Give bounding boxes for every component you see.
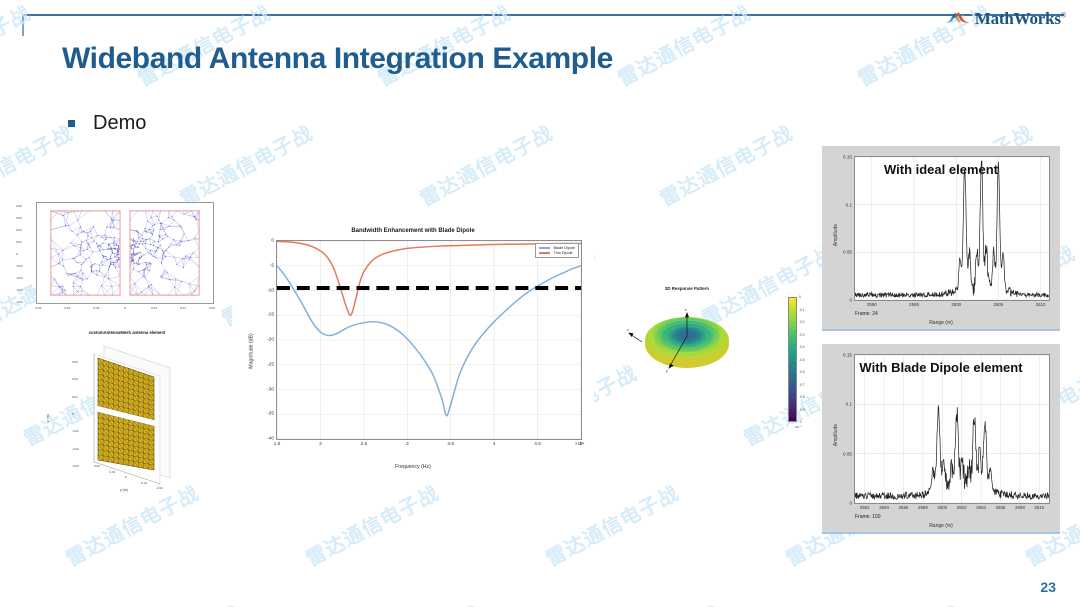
bandwidth-xtick-label: 2.5: [361, 442, 368, 447]
custom-antenna-element-ztick-label: 0.03: [72, 360, 78, 364]
custom-antenna-element-xtick-label: 0.01: [110, 470, 116, 474]
page-title: Wideband Antenna Integration Example: [62, 42, 613, 76]
colorbar-tick-label: -0.8: [799, 395, 805, 399]
bandwidth-ytick-label: -25: [267, 362, 274, 367]
legend-label-thin-dipole: Thin Dipole: [553, 251, 572, 255]
range-profile-blade-svg: [855, 355, 1049, 503]
range-profile-blade-frame: Frame: 100: [855, 514, 881, 520]
range-profile-xtick-label: 2610: [1034, 505, 1044, 510]
legend-item-blade-dipole[interactable]: Blade Dipole: [539, 246, 575, 250]
bandwidth-chart-title: Bandwidth Enhancement with Blade Dipole: [232, 228, 594, 234]
range-profile-xtick-label: 2598: [918, 505, 928, 510]
range-profile-xtick-label: 2608: [1015, 505, 1025, 510]
range-profile-blade-axes: 00.050.10.15 259225942596259826002602260…: [854, 354, 1050, 504]
antenna-mesh-ytick-label: 0: [16, 252, 18, 256]
bandwidth-ytick-label: -10: [267, 288, 274, 293]
legend-swatch-blade-dipole: [539, 247, 550, 248]
bandwidth-ytick-label: -20: [267, 338, 274, 343]
custom-antenna-element-ztick-label: 0.01: [72, 395, 78, 399]
bandwidth-ytick-label: -35: [267, 412, 274, 417]
range-profile-ytick-label: 0.15: [843, 353, 852, 358]
antenna-mesh-ytick-label: -0.02: [16, 288, 23, 292]
custom-antenna-element-xtick-label: 0: [125, 475, 127, 479]
antenna-mesh-ytick-label: -0.02: [16, 300, 23, 304]
range-profile-blade-ylabel: Amplitude: [833, 424, 839, 446]
bullet-item-demo: Demo: [68, 112, 146, 135]
bandwidth-ytick-label: 0: [271, 239, 274, 244]
antenna-mesh-xtick-label: 0.01: [180, 306, 186, 310]
bandwidth-xtick-label: 4: [493, 442, 496, 447]
header-rule-tick: [22, 14, 24, 36]
slide-number: 23: [1040, 579, 1056, 595]
mathworks-logo-text: MathWorks®: [975, 9, 1066, 29]
antenna-mesh-svg: [37, 203, 213, 303]
bandwidth-xtick-label: 3.5: [447, 442, 454, 447]
antenna-mesh-xtick-label: 0.01: [151, 306, 157, 310]
custom-antenna-element-ztick-label: -0.03: [72, 464, 79, 468]
colorbar-tick-label: -0.6: [799, 370, 805, 374]
colorbar-tick-label: -0.7: [799, 383, 805, 387]
antenna-mesh-xtick-label: 0.02: [209, 306, 215, 310]
antenna-mesh-ytick-label: 0.02: [16, 216, 22, 220]
range-profile-xtick-label: 2600: [951, 302, 961, 307]
watermark-text: 雷达通信电子战: [1062, 597, 1080, 607]
custom-antenna-element-ylabel: z (m): [46, 414, 50, 422]
range-profile-blade-caption: With Blade Dipole element: [822, 360, 1060, 375]
svg-text:y: y: [666, 369, 668, 373]
antenna-mesh-ytick-label: -0.01: [16, 264, 23, 268]
colorbar-tick-label: -1: [799, 420, 802, 424]
range-profile-xtick-label: 2595: [909, 302, 919, 307]
watermark-text: 雷达通信电子战: [414, 117, 557, 212]
custom-antenna-element-xlabel: y (m): [120, 488, 128, 492]
bandwidth-xtick-label: 2: [319, 442, 322, 447]
antenna-mesh-figure: -0.02-0.01-0.0100.010.010.02 0.020.020.0…: [14, 196, 220, 322]
bandwidth-chart-svg: [277, 241, 581, 439]
colorbar-tick-label: -0.9: [799, 408, 805, 412]
range-profile-blade-xlabel: Range (m): [822, 523, 1060, 529]
range-profile-xtick-label: 2592: [860, 505, 870, 510]
bullet-marker-icon: [68, 120, 75, 127]
range-profile-ideal-underline: [822, 329, 1060, 331]
colorbar-tick-label: 0: [799, 295, 801, 299]
range-profile-ideal-panel: With ideal element Amplitude Range (m) F…: [822, 146, 1060, 331]
watermark-text: 雷达通信电子战: [300, 477, 443, 572]
custom-antenna-element-ztick-label: -0.01: [72, 429, 79, 433]
range-profile-ytick-label: 0.15: [843, 155, 852, 160]
range-profile-ideal-svg: [855, 157, 1049, 300]
bandwidth-ytick-label: -15: [267, 313, 274, 318]
mathworks-logo: MathWorks®: [946, 6, 1066, 32]
svg-text:x: x: [627, 328, 629, 332]
range-profile-xtick-label: 2600: [937, 505, 947, 510]
bandwidth-chart-x-exponent: ×10⁹: [575, 441, 584, 446]
range-profile-ideal-xlabel: Range (m): [822, 320, 1060, 326]
range-profile-trace: [855, 161, 1049, 297]
antenna-mesh-xtick-label: -0.01: [64, 306, 71, 310]
custom-antenna-element-figure: customAntennaMesh antenna element 0.030.…: [42, 328, 212, 496]
watermark-text: 雷达通信电子战: [540, 477, 683, 572]
bandwidth-chart-ylabel: Magnitude (dB): [249, 333, 255, 368]
watermark-text: 雷达通信电子战: [102, 597, 245, 607]
mathworks-membrane-icon: [946, 9, 970, 29]
watermark-text: 雷达通信电子战: [342, 597, 485, 607]
range-profile-ytick-label: 0.1: [846, 402, 852, 407]
range-profile-xtick-label: 2602: [957, 505, 967, 510]
response-pattern-figure: 3D Response Pattern: [622, 282, 752, 408]
bandwidth-xtick-label: 1.5: [274, 442, 281, 447]
watermark-text: 雷达通信电子战: [582, 597, 725, 607]
bandwidth-ytick-label: -40: [267, 437, 274, 442]
antenna-mesh-ytick-label: -0.01: [16, 276, 23, 280]
bandwidth-ytick-label: -30: [267, 387, 274, 392]
custom-antenna-element-title: customAntennaMesh antenna element: [42, 330, 212, 335]
colorbar-tick-label: -0.3: [799, 333, 805, 337]
range-profile-ytick-label: 0: [849, 501, 852, 506]
legend-swatch-thin-dipole: [539, 252, 550, 253]
header-rule: [22, 14, 1064, 16]
antenna-mesh-ytick-label: 0.02: [16, 204, 22, 208]
range-profile-xtick-label: 2610: [1036, 302, 1046, 307]
antenna-mesh-xtick-label: -0.02: [35, 306, 42, 310]
range-profile-xtick-label: 2596: [899, 505, 909, 510]
custom-antenna-element-xtick-label: -0.01: [141, 481, 148, 485]
range-profile-xtick-label: 2594: [879, 505, 889, 510]
custom-antenna-element-xtick-label: -0.02: [156, 486, 163, 490]
legend-item-thin-dipole[interactable]: Thin Dipole: [539, 251, 575, 255]
custom-antenna-element-xtick-label: 0.02: [94, 464, 100, 468]
custom-antenna-element-ztick-label: 0.02: [72, 377, 78, 381]
custom-antenna-element-svg: [42, 328, 212, 496]
range-profile-blade-underline: [822, 532, 1060, 534]
range-profile-ytick-label: 0.1: [846, 202, 852, 207]
custom-antenna-element-ztick-label: 0: [72, 412, 74, 416]
bandwidth-chart-plot-area: 0-5-10-15-20-25-30-35-40 1.522.533.544.5…: [276, 240, 582, 440]
range-profile-ytick-label: 0.05: [843, 250, 852, 255]
colorbar-tick-label: -0.4: [799, 345, 805, 349]
bandwidth-xtick-label: 3: [406, 442, 409, 447]
range-profile-xtick-label: 2590: [867, 302, 877, 307]
antenna-mesh-xtick-label: 0: [124, 306, 126, 310]
legend-label-blade-dipole: Blade Dipole: [553, 246, 575, 250]
range-profile-ideal-axes: 00.050.10.15 25902595260026052610: [854, 156, 1050, 301]
bandwidth-xtick-label: 4.5: [534, 442, 541, 447]
range-profile-xtick-label: 2605: [994, 302, 1004, 307]
bandwidth-chart-xlabel: Frequency (Hz): [232, 464, 594, 470]
range-profile-ytick-label: 0: [849, 298, 852, 303]
antenna-mesh-ytick-label: 0.01: [16, 228, 22, 232]
custom-antenna-element-ztick-label: -0.02: [72, 447, 79, 451]
antenna-mesh-xtick-label: -0.01: [93, 306, 100, 310]
range-profile-ideal-frame: Frame: 24: [855, 311, 878, 317]
colorbar-gradient: [788, 297, 797, 422]
range-profile-ytick-label: 0.05: [843, 451, 852, 456]
antenna-mesh-ytick-label: 0.01: [16, 240, 22, 244]
response-pattern-title: 3D Response Pattern: [622, 286, 752, 291]
colorbar-exponent: ×10⁻⁴: [794, 425, 802, 429]
bandwidth-enhancement-figure: Bandwidth Enhancement with Blade Dipole …: [232, 226, 594, 476]
bandwidth-chart-legend[interactable]: Blade Dipole Thin Dipole: [535, 243, 579, 258]
range-profile-xtick-label: 2604: [976, 505, 986, 510]
antenna-mesh-axes: [36, 202, 214, 304]
colorbar-tick-label: -0.5: [799, 358, 805, 362]
watermark-text: 雷达通信电子战: [822, 597, 965, 607]
watermark-text: 雷达通信电子战: [654, 117, 797, 212]
range-profile-blade-panel: With Blade Dipole element Amplitude Rang…: [822, 344, 1060, 534]
bandwidth-ytick-label: -5: [270, 263, 274, 268]
range-profile-xtick-label: 2606: [996, 505, 1006, 510]
bullet-item-label: Demo: [93, 112, 146, 135]
range-profile-ideal-ylabel: Amplitude: [833, 224, 839, 246]
colorbar-tick-label: -0.1: [799, 308, 805, 312]
svg-text:z: z: [685, 308, 687, 312]
response-pattern-svg: z x y: [622, 282, 752, 408]
range-profile-ideal-caption: With ideal element: [822, 162, 1060, 177]
colorbar-tick-label: -0.2: [799, 320, 805, 324]
